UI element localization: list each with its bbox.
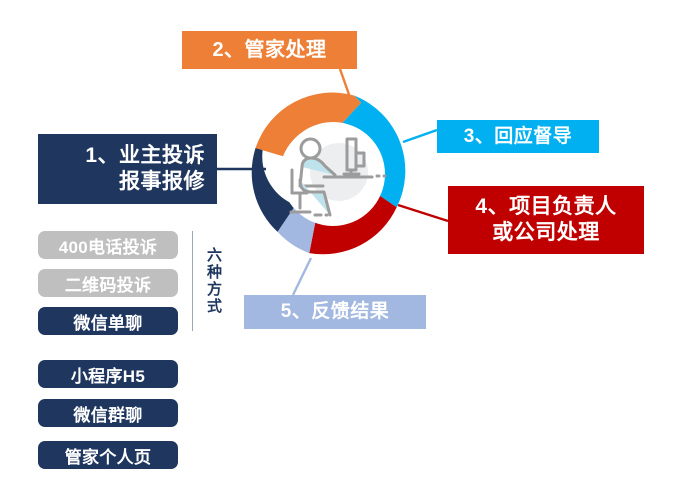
step-5-line-1: 5、反馈结果 xyxy=(281,300,390,323)
person-at-desk-icon xyxy=(291,139,385,215)
step-5-label-box[interactable]: 5、反馈结果 xyxy=(244,295,426,329)
icon-backdrop xyxy=(310,143,368,201)
channel-pill-phone-label: 400电话投诉 xyxy=(59,233,157,258)
connector-step4 xyxy=(398,205,448,221)
channel-pill-wechat-single-chat-label: 微信单聊 xyxy=(73,309,142,334)
step-1-line-2: 报事报修 xyxy=(119,169,205,195)
ring-segment-step1 xyxy=(252,113,309,232)
channel-pill-steward-profile-label: 管家个人页 xyxy=(65,443,152,468)
ring-inner-disc xyxy=(281,122,385,226)
channel-pill-qrcode[interactable]: 二维码投诉 xyxy=(38,269,178,297)
ring-segment-step3 xyxy=(341,96,405,208)
ring-segment-step2 xyxy=(256,93,362,157)
channel-pill-wechat-single-chat[interactable]: 微信单聊 xyxy=(38,307,178,335)
diagram-canvas: 1、业主投诉 报事报修 2、管家处理 3、回应督导 4、项目负责人 或公司处理 … xyxy=(0,0,683,488)
channel-pill-steward-profile[interactable]: 管家个人页 xyxy=(38,441,178,469)
connector-step2 xyxy=(340,69,352,103)
step-1-line-1: 1、业主投诉 xyxy=(85,143,205,169)
step-4-label-box[interactable]: 4、项目负责人 或公司处理 xyxy=(448,186,644,254)
channels-group-divider xyxy=(192,231,193,331)
channel-pill-wechat-group-chat-label: 微信群聊 xyxy=(73,401,142,426)
ring-segment-step5 xyxy=(278,186,316,253)
step-3-label-box[interactable]: 3、回应督导 xyxy=(437,120,599,153)
connector-step5 xyxy=(293,258,311,295)
ring-segment-step4 xyxy=(309,186,396,254)
connector-step3 xyxy=(403,130,437,142)
channel-pill-miniprogram-h5[interactable]: 小程序H5 xyxy=(38,360,178,388)
channels-group-label: 六种方式 xyxy=(197,231,221,331)
channel-pill-miniprogram-h5-label: 小程序H5 xyxy=(71,362,145,387)
channel-pill-wechat-group-chat[interactable]: 微信群聊 xyxy=(38,399,178,427)
step-3-line-1: 3、回应督导 xyxy=(464,125,573,148)
channel-pill-qrcode-label: 二维码投诉 xyxy=(65,271,152,296)
step-2-line-1: 2、管家处理 xyxy=(212,38,326,62)
channel-pill-phone[interactable]: 400电话投诉 xyxy=(38,231,178,259)
step-4-line-2: 或公司处理 xyxy=(492,220,600,246)
step-4-line-1: 4、项目负责人 xyxy=(475,194,616,220)
step-1-label-box[interactable]: 1、业主投诉 报事报修 xyxy=(38,134,217,204)
cycle-ring xyxy=(252,93,406,255)
step-2-label-box[interactable]: 2、管家处理 xyxy=(182,31,357,69)
